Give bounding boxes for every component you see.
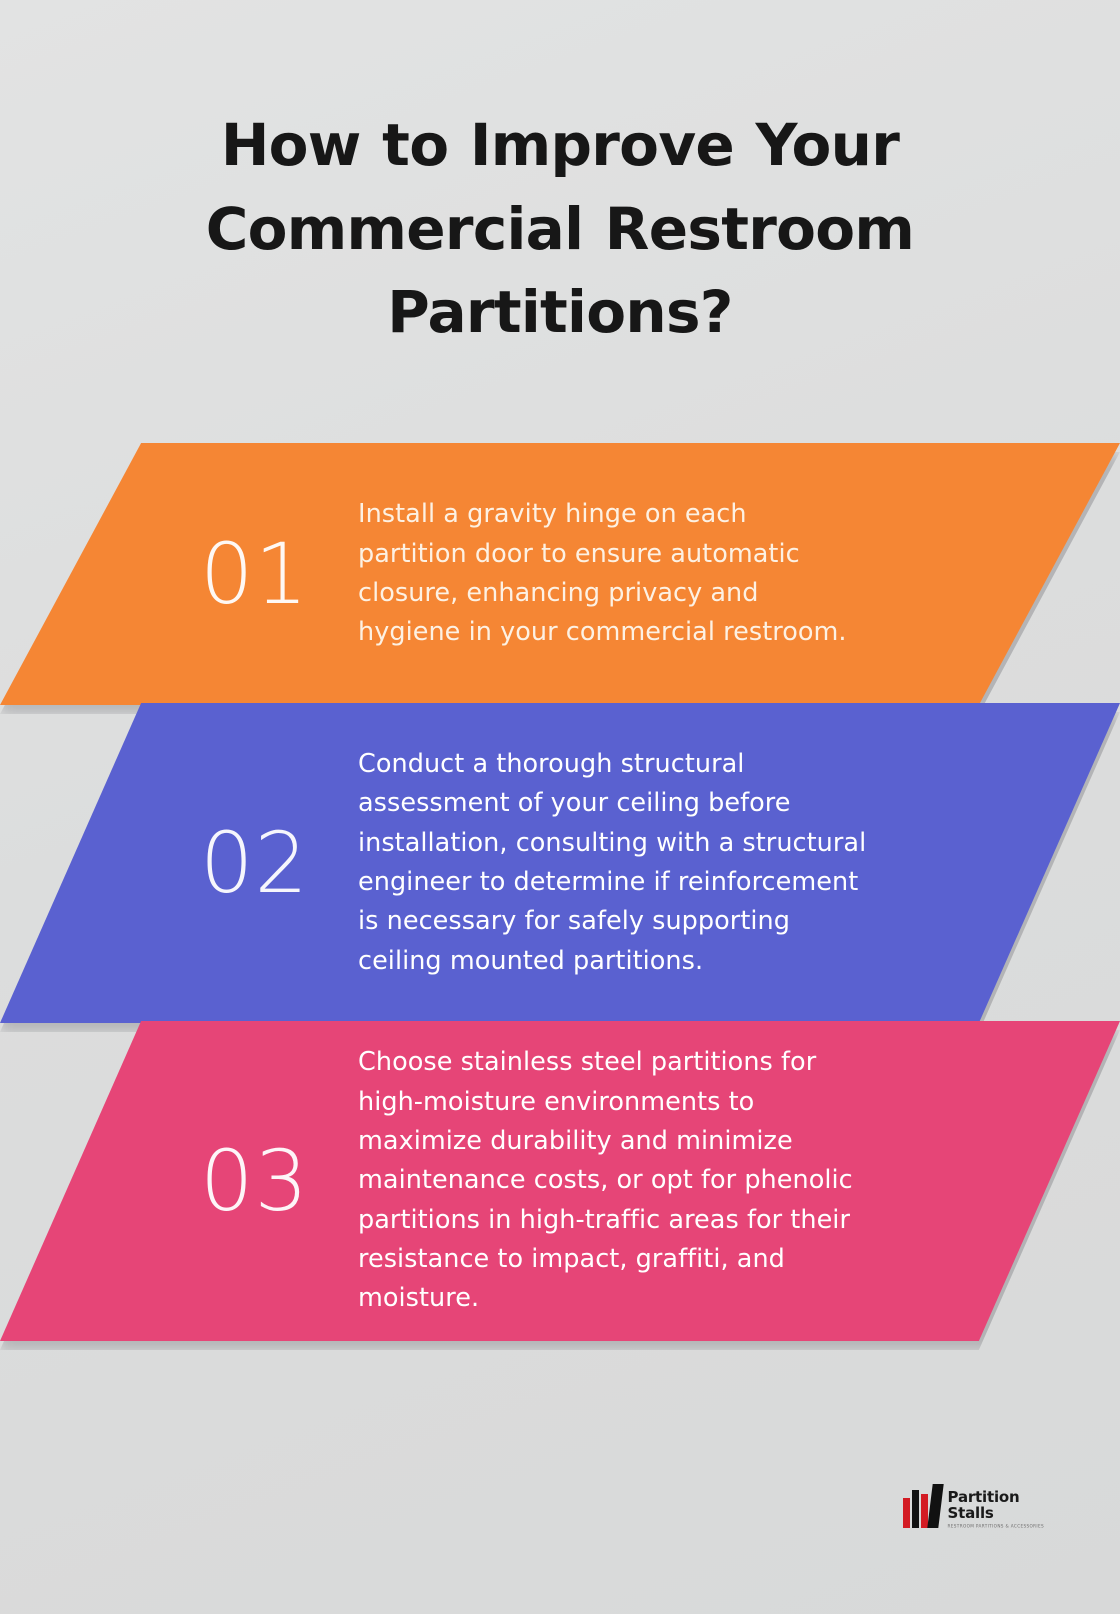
step-band-2[interactable]: 02 Conduct a thorough structural assessm… [0, 703, 1120, 1023]
step-band-3[interactable]: 03 Choose stainless steel partitions for… [0, 1021, 1120, 1341]
title-text: How to Improve Your Commercial Restroom … [120, 104, 1000, 355]
title-line-1: How to Improve Your [221, 111, 899, 179]
logo-line-1: Partition [948, 1490, 1044, 1505]
step-text-1: Install a gravity hinge on each partitio… [358, 495, 858, 653]
logo-bar-black-1 [912, 1490, 919, 1528]
infographic-poster: How to Improve Your Commercial Restroom … [0, 0, 1120, 1614]
step-content-3: 03 Choose stainless steel partitions for… [0, 1043, 1120, 1319]
step-band-1[interactable]: 01 Install a gravity hinge on each parti… [0, 443, 1120, 705]
logo-bar-black-2 [927, 1484, 943, 1528]
step-number-2: 02 [200, 821, 358, 905]
step-content-2: 02 Conduct a thorough structural assessm… [0, 745, 1120, 981]
step-number-1: 01 [200, 532, 358, 616]
logo-line-2: Stalls [948, 1506, 1044, 1521]
title-line-2: Commercial Restroom [206, 195, 914, 263]
partition-bars-icon [903, 1484, 941, 1528]
logo-wordmark: Partition Stalls RESTROOM PARTITIONS & A… [948, 1490, 1044, 1528]
brand-logo[interactable]: Partition Stalls RESTROOM PARTITIONS & A… [903, 1484, 1044, 1528]
step-number-3: 03 [200, 1139, 358, 1223]
step-text-2: Conduct a thorough structural assessment… [358, 745, 878, 981]
page-title: How to Improve Your Commercial Restroom … [120, 104, 1000, 355]
logo-tagline: RESTROOM PARTITIONS & ACCESSORIES [948, 1524, 1044, 1529]
title-line-3: Partitions? [387, 278, 733, 346]
logo-bar-red-1 [903, 1498, 910, 1528]
logo-bar-red-2 [921, 1494, 928, 1528]
step-content-1: 01 Install a gravity hinge on each parti… [0, 495, 1120, 653]
step-text-3: Choose stainless steel partitions for hi… [358, 1043, 868, 1319]
